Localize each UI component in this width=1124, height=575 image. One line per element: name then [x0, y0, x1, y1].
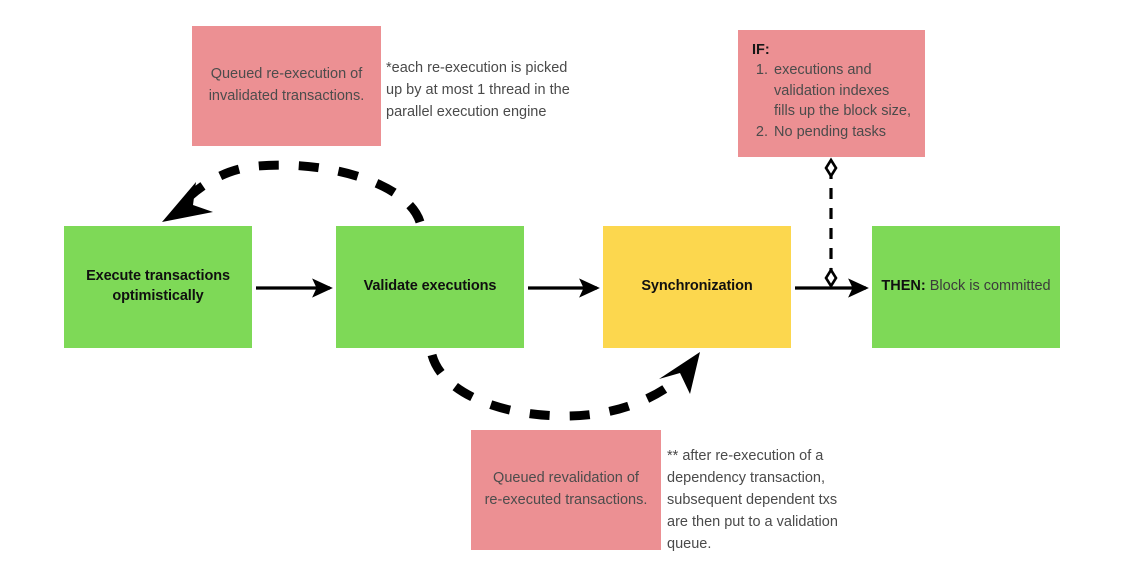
- stage-box-committed: THEN: Block is committed: [872, 226, 1060, 348]
- stage-box-execute-label: Execute transactions optimistically: [64, 267, 252, 306]
- queue-note-reexecution: Queued re-execution of invalidated trans…: [192, 26, 381, 146]
- dashed-connector-if-condition: [826, 160, 836, 286]
- footnote-dependency: ** after re-execution of a dependency tr…: [667, 445, 852, 555]
- if-condition-item: executions and validation indexes fills …: [772, 60, 911, 122]
- stage-box-validate-label: Validate executions: [354, 277, 507, 297]
- if-condition-box: IF: executions and validation indexes fi…: [738, 30, 925, 157]
- if-condition-list: executions and validation indexes fills …: [752, 60, 911, 142]
- if-condition-title: IF:: [752, 42, 911, 58]
- queue-note-revalidation: Queued revalidation of re-executed trans…: [471, 430, 661, 550]
- queue-note-reexecution-label: Queued re-execution of invalidated trans…: [192, 64, 381, 108]
- then-prefix: THEN:: [881, 278, 925, 294]
- then-text: Block is committed: [930, 278, 1051, 294]
- queue-note-revalidation-label: Queued revalidation of re-executed trans…: [471, 468, 661, 512]
- if-condition-item: No pending tasks: [772, 122, 911, 143]
- diagram-canvas: Queued re-execution of invalidated trans…: [0, 0, 1124, 575]
- stage-box-synchronization: Synchronization: [603, 226, 791, 348]
- stage-box-committed-label: THEN: Block is committed: [873, 277, 1058, 297]
- dashed-arrow-reexecution-feedback-bottom: [432, 352, 700, 416]
- stage-box-synchronization-label: Synchronization: [631, 277, 762, 297]
- diamond-top-icon: [826, 160, 836, 176]
- dashed-arrow-revalidation-feedback-top: [162, 165, 420, 222]
- diamond-bottom-icon: [826, 270, 836, 286]
- arrowhead-to-execute-icon: [162, 182, 213, 222]
- stage-box-validate: Validate executions: [336, 226, 524, 348]
- stage-box-execute: Execute transactions optimistically: [64, 226, 252, 348]
- arrowhead-to-synchronization-icon: [659, 352, 700, 394]
- footnote-thread: *each re-execution is picked up by at mo…: [386, 57, 582, 123]
